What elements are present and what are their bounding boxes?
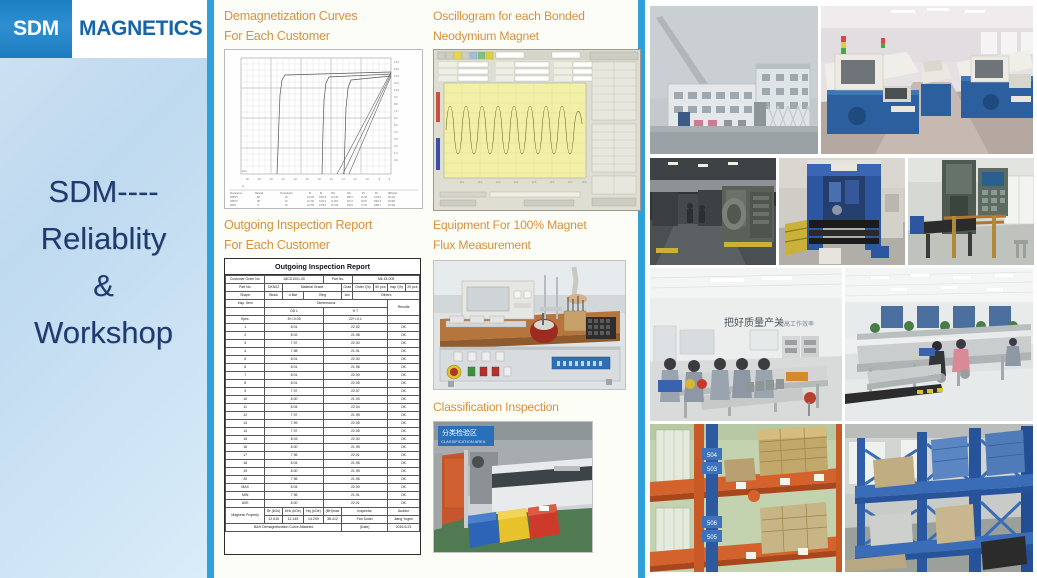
cell-row-dim-1: 8.01 <box>265 380 323 388</box>
cell-insp-item-label: Insp. Item <box>226 300 265 308</box>
sidebar-title-line-1: SDM---- <box>0 168 207 215</box>
cell-row-result: OK <box>387 444 419 452</box>
cell-spec-result <box>387 316 419 324</box>
cell-order-qty-label: Order Q'ty <box>353 284 374 292</box>
table-row: 18.0122.02OK <box>226 324 420 332</box>
svg-text:2.0: 2.0 <box>394 144 398 148</box>
cell-row-dim-1: 8.00 <box>265 444 323 452</box>
cell-row-index: 16 <box>226 444 265 452</box>
svg-text:505: 505 <box>707 535 718 541</box>
cell-shape-label: Shape <box>226 292 265 300</box>
table-row: 68.0121.96OK <box>226 364 420 372</box>
svg-text:19.87: 19.87 <box>361 201 367 203</box>
outgoing-report-block: Outgoing Inspection Report For Each Cust… <box>224 215 431 555</box>
table-row: Spec. 8+/-0.05 22+/-0.1 <box>226 316 420 324</box>
cell-material-grade-value: Grad <box>342 284 353 292</box>
cell-partno-value-top: Mk.15-005 <box>353 276 420 284</box>
cell-dim-col-1: OD L <box>265 308 323 316</box>
cell-row-dim-1: 7.98 <box>265 348 323 356</box>
svg-text:Br: Br <box>309 192 312 195</box>
table-row: MAX8.0422.09OK <box>226 484 420 492</box>
left-sidebar: SDM MAGNETICS SDM---- Reliablity & Works… <box>0 0 207 578</box>
svg-text:N35SH: N35SH <box>230 197 238 199</box>
cell-row-dim-1: 8.02 <box>265 332 323 340</box>
cell-row-index: 3 <box>226 340 265 348</box>
cell-summary-dim-1: 8.00 <box>265 500 323 508</box>
cell-row-index: 8 <box>226 380 265 388</box>
cell-row-dim-1: 7.97 <box>265 388 323 396</box>
cell-dimensions-header: Dimensions <box>265 300 388 308</box>
flux-measurement-equipment-photo[interactable] <box>433 260 626 390</box>
cell-partno-value: DKN22 <box>265 284 283 292</box>
classification-inspection-photo[interactable]: 分类检验区 CLASSIFICATION AREA <box>433 421 593 553</box>
svg-text:12.515: 12.515 <box>307 197 315 199</box>
table-row: Magnetic Property Br (kGs) bHc (kOe) Hcj… <box>226 508 420 516</box>
cell-footer-date: 2016.6.23 <box>387 524 419 532</box>
cell-row-dim-1: 8.03 <box>265 436 323 444</box>
cell-row-index: 7 <box>226 372 265 380</box>
cell-row-dim-2: 21.95 <box>323 460 387 468</box>
assembly-banner-text: 把好质量产关 <box>724 316 784 329</box>
cell-shape-block: Block <box>265 292 283 300</box>
cell-mag-col-0: Br (kGs) <box>265 508 283 516</box>
heading-classification: Classification Inspection <box>433 397 640 417</box>
oscillogram-svg: 10.110.2 10.310.4 10.510.6 10.710.8 <box>434 50 640 210</box>
cell-row-result: OK <box>387 412 419 420</box>
cell-order-qty-value: 50 pcs <box>373 284 387 292</box>
svg-text:503: 503 <box>707 467 718 473</box>
cell-partno-label: Part No. <box>226 284 265 292</box>
table-row: 137.9922.05OK <box>226 420 420 428</box>
cell-row-result: OK <box>387 372 419 380</box>
demagnetization-chart[interactable]: 14.013.0 12.011.0 10.09.0 8.07.0 6.05.0 … <box>224 49 423 209</box>
svg-text:3.0: 3.0 <box>394 137 398 141</box>
cell-row-dim-2: 21.96 <box>323 364 387 372</box>
table-row: 37.9722.00OK <box>226 340 420 348</box>
cell-row-dim-1: 8.00 <box>265 468 323 476</box>
cell-row-dim-2: 21.91 <box>323 348 387 356</box>
cell-summary-label: MAX <box>226 484 265 492</box>
cell-row-dim-2: 21.93 <box>323 396 387 404</box>
cell-summary-label: AVE <box>226 500 265 508</box>
cell-row-dim-1: 7.96 <box>265 452 323 460</box>
cell-shape-others: Others <box>353 292 420 300</box>
cell-row-index: 17 <box>226 452 265 460</box>
cell-row-dim-1: 8.01 <box>265 364 323 372</box>
svg-text:SH: SH <box>257 197 261 199</box>
cell-row-result: OK <box>387 364 419 372</box>
cell-row-dim-2: 22.00 <box>323 356 387 364</box>
cell-row-dim-2: 22.04 <box>323 404 387 412</box>
middle-top-row: Demagnetization Curves For Each Customer <box>224 6 634 211</box>
cell-summary-dim-2: 21.91 <box>323 492 387 500</box>
svg-text:10.1: 10.1 <box>460 181 465 184</box>
cell-row-index: 4 <box>226 348 265 356</box>
cell-dim-spacer <box>226 308 265 316</box>
cell-shape-bar: d Bar <box>282 292 303 300</box>
cell-row-result: OK <box>387 468 419 476</box>
cell-mag-val-1: 12.145 <box>282 516 303 524</box>
photo-assembly-line[interactable] <box>845 268 1033 421</box>
classification-photo-svg: 分类检验区 CLASSIFICATION AREA <box>434 422 592 552</box>
cell-magnetic-label: Magnetic Property <box>226 508 265 524</box>
photo-control-equipment[interactable] <box>908 158 1034 265</box>
cell-summary-dim-1: 8.04 <box>265 484 323 492</box>
svg-text:10.0: 10.0 <box>394 88 400 92</box>
svg-text:8.0: 8.0 <box>394 102 398 106</box>
svg-text:7.0: 7.0 <box>394 109 398 113</box>
sidebar-title-line-2: Reliablity <box>0 215 207 262</box>
svg-text:4.0: 4.0 <box>394 130 398 134</box>
svg-text:Temp(degC): Temp(degC) <box>280 193 293 195</box>
cell-row-dim-2: 22.07 <box>323 388 387 396</box>
heading-oscillogram-line2: Neodymium Magnet <box>433 26 640 46</box>
table-row: MIN7.9621.91OK <box>226 492 420 500</box>
cell-row-index: 6 <box>226 364 265 372</box>
svg-text:9.0: 9.0 <box>394 95 398 99</box>
cell-row-result: OK <box>387 452 419 460</box>
cell-insp-qty-value: 20 pcs <box>405 284 419 292</box>
svg-text:5.0: 5.0 <box>394 123 398 127</box>
cell-row-index: 1 <box>226 324 265 332</box>
middle-bottom-row: Outgoing Inspection Report For Each Cust… <box>224 215 634 555</box>
cell-row-index: 10 <box>226 396 265 404</box>
middle-panel: Demagnetization Curves For Each Customer <box>214 0 638 578</box>
svg-text:1275.0: 1275.0 <box>319 205 327 207</box>
equipment-photo-svg <box>434 261 625 389</box>
svg-text:14.0: 14.0 <box>394 60 400 64</box>
sign-en-text: CLASSIFICATION AREA <box>441 439 486 444</box>
photo-blue-racking[interactable] <box>845 424 1033 572</box>
cell-shape-arc: Arc <box>342 292 353 300</box>
logo-wordmark: MAGNETICS <box>72 17 202 41</box>
svg-text:1380.7: 1380.7 <box>374 205 382 207</box>
sign-cn-text: 分类检验区 <box>442 428 477 437</box>
cell-dim-col-2: H T <box>323 308 387 316</box>
table-row: 177.9622.01OK <box>226 452 420 460</box>
table-row: 88.0122.05OK <box>226 380 420 388</box>
report-header-section: Customer Order No. 18CD1001.00 Part No. … <box>226 276 420 324</box>
svg-text:1.0: 1.0 <box>394 151 398 155</box>
cell-row-result: OK <box>387 460 419 468</box>
heading-equipment-line1: Equipment For 100% Magnet <box>433 215 640 235</box>
oscillogram-block: Oscillogram for each Bonded Neodymium Ma… <box>433 6 640 211</box>
svg-text:H: H <box>242 184 244 188</box>
cell-row-dim-2: 22.02 <box>323 324 387 332</box>
cell-mag-col-3: (BH)max <box>323 508 342 516</box>
cell-row-result: OK <box>387 388 419 396</box>
svg-text:11.0: 11.0 <box>394 81 399 85</box>
svg-text:12.0: 12.0 <box>394 74 400 78</box>
svg-text:0.0: 0.0 <box>394 158 398 162</box>
cell-row-result: OK <box>387 428 419 436</box>
cell-row-dim-1: 7.97 <box>265 412 323 420</box>
cell-row-dim-2: 21.99 <box>323 412 387 420</box>
cell-footer-date-label: (Date) <box>342 524 388 532</box>
svg-text:17.35: 17.35 <box>361 205 367 207</box>
svg-text:10.8: 10.8 <box>582 181 587 184</box>
table-row: 78.0122.09OK <box>226 372 420 380</box>
table-row: 207.9621.95OK <box>226 476 420 484</box>
cell-row-index: 13 <box>226 420 265 428</box>
heading-report-line2: For Each Customer <box>224 235 431 255</box>
cell-shape-ring: Ring <box>304 292 342 300</box>
cell-customer-order-value: 18CD1001.00 <box>265 276 323 284</box>
cell-row-dim-2: 21.99 <box>323 468 387 476</box>
cell-row-result: OK <box>387 396 419 404</box>
table-row: 158.0322.00OK <box>226 436 420 444</box>
cell-row-dim-1: 8.00 <box>265 396 323 404</box>
svg-text:1251.5: 1251.5 <box>319 197 327 199</box>
cell-row-dim-1: 8.01 <box>265 372 323 380</box>
photo-blue-press[interactable] <box>779 158 905 265</box>
cell-row-dim-1: 7.99 <box>265 420 323 428</box>
svg-text:10.4: 10.4 <box>514 181 519 184</box>
heading-report-line1: Outgoing Inspection Report <box>224 215 431 235</box>
table-row: 28.0221.98OK <box>226 332 420 340</box>
svg-text:Br: Br <box>320 192 323 195</box>
logo-mark-badge: SDM <box>0 0 72 58</box>
company-logo[interactable]: SDM MAGNETICS <box>0 0 207 58</box>
svg-text:504: 504 <box>707 453 718 459</box>
photo-dark-workshop[interactable] <box>650 158 776 265</box>
cell-results-header: Results <box>387 300 419 316</box>
table-row: B&H Demagnetization Curve Attached (Date… <box>226 524 420 532</box>
cell-auditor-label: Auditor <box>387 508 419 516</box>
table-row: Insp. Item Dimensions Results <box>226 300 420 308</box>
svg-text:506: 506 <box>707 521 718 527</box>
cell-row-dim-2: 22.05 <box>323 428 387 436</box>
svg-text:36.990: 36.990 <box>388 201 396 203</box>
cell-summary-label: MIN <box>226 492 265 500</box>
sidebar-title: SDM---- Reliablity & Workshop <box>0 168 207 356</box>
cell-mag-val-3: 38.412 <box>323 516 342 524</box>
heading-demagnetization-line2: For Each Customer <box>224 26 431 46</box>
report-magnetic-section: Magnetic Property Br (kGs) bHc (kOe) Hcj… <box>226 508 420 532</box>
report-measurement-rows: 18.0122.02OK28.0221.98OK37.9722.00OK47.9… <box>226 324 420 484</box>
cell-row-dim-2: 22.01 <box>323 452 387 460</box>
cell-row-result: OK <box>387 476 419 484</box>
svg-text:13.0: 13.0 <box>394 67 400 71</box>
cell-row-index: 5 <box>226 356 265 364</box>
cell-row-result: OK <box>387 404 419 412</box>
table-row: 97.9722.07OK <box>226 388 420 396</box>
cell-row-index: 19 <box>226 468 265 476</box>
sidebar-title-line-3: & <box>0 262 207 309</box>
heading-demagnetization-line1: Demagnetization Curves <box>224 6 431 26</box>
svg-text:Material: Material <box>255 192 264 195</box>
cell-partno-label-top: Part No. <box>323 276 352 284</box>
svg-text:12.750: 12.750 <box>307 205 315 207</box>
cell-row-dim-2: 22.00 <box>323 436 387 444</box>
logo-mark-text: SDM <box>13 17 59 41</box>
svg-text:12.312: 12.312 <box>331 205 339 207</box>
svg-text:10.5: 10.5 <box>532 181 537 184</box>
slide-root: SDM MAGNETICS SDM---- Reliablity & Works… <box>0 0 1037 578</box>
cell-row-result: OK <box>387 420 419 428</box>
svg-text:Remanence: Remanence <box>230 193 243 195</box>
cell-row-dim-1: 7.97 <box>265 340 323 348</box>
cell-spec-value-1: 8+/-0.05 <box>265 316 323 324</box>
cell-footer-note: B&H Demagnetization Curve Attached <box>226 524 342 532</box>
cell-summary-result: OK <box>387 500 419 508</box>
cell-row-dim-1: 7.97 <box>265 428 323 436</box>
cell-insp-qty-label: Insp Q'ty <box>387 284 405 292</box>
cell-summary-dim-2: 22.01 <box>323 500 387 508</box>
svg-text:N40H: N40H <box>230 205 236 207</box>
cell-row-index: 18 <box>226 460 265 468</box>
cell-row-dim-2: 22.05 <box>323 420 387 428</box>
cell-customer-order-label: Customer Order No. <box>226 276 265 284</box>
table-row: AVE8.0022.01OK <box>226 500 420 508</box>
svg-text:21.99: 21.99 <box>361 197 367 199</box>
table-row: 108.0021.93OK <box>226 396 420 404</box>
photo-machining-hall[interactable] <box>821 6 1033 154</box>
svg-text:kOe: kOe <box>242 169 247 173</box>
svg-text:1750.0: 1750.0 <box>374 197 382 199</box>
cell-spec-label: Spec. <box>226 316 265 324</box>
cell-mag-col-1: bHc (kOe) <box>282 508 303 516</box>
svg-text:10.2: 10.2 <box>478 181 483 184</box>
table-row: 168.0021.99OK <box>226 444 420 452</box>
svg-text:979.8: 979.8 <box>347 205 353 207</box>
table-row: Part No. DKN22 Material Grade Grad Order… <box>226 284 420 292</box>
table-row: Customer Order No. 18CD1001.00 Part No. … <box>226 276 420 284</box>
cell-inspector-value: Fan Solan <box>342 516 388 524</box>
cell-row-result: OK <box>387 332 419 340</box>
svg-text:N38SH: N38SH <box>230 201 238 203</box>
outgoing-inspection-report[interactable]: Outgoing Inspection Report Customer Orde… <box>224 258 421 555</box>
cell-row-dim-1: 8.04 <box>265 404 323 412</box>
cell-row-dim-1: 8.01 <box>265 324 323 332</box>
cell-mag-val-2: 14.299 <box>304 516 324 524</box>
table-row: 188.0421.95OK <box>226 460 420 468</box>
cell-row-result: OK <box>387 356 419 364</box>
table-row: 147.9722.05OK <box>226 428 420 436</box>
svg-text:11.902: 11.902 <box>331 201 339 203</box>
svg-text:12.310: 12.310 <box>307 201 315 203</box>
svg-text:SH: SH <box>257 201 261 203</box>
cell-row-dim-2: 21.95 <box>323 476 387 484</box>
svg-text:1231.0: 1231.0 <box>319 201 327 203</box>
table-row: 58.0122.00OK <box>226 356 420 364</box>
svg-text:947.2: 947.2 <box>347 201 353 203</box>
svg-text:10.3: 10.3 <box>496 181 501 184</box>
table-row: 198.0021.99OK <box>226 468 420 476</box>
cell-row-dim-2: 22.05 <box>323 380 387 388</box>
cell-mag-col-2: Hcj (kOe) <box>304 508 324 516</box>
oscillogram-screenshot[interactable]: 10.110.2 10.310.4 10.510.6 10.710.8 <box>433 49 641 211</box>
cell-row-index: 20 <box>226 476 265 484</box>
equipment-classification-block: Equipment For 100% Magnet Flux Measureme… <box>433 215 640 555</box>
svg-text:(BH)max: (BH)max <box>388 193 398 195</box>
report-table: Customer Order No. 18CD1001.00 Part No. … <box>225 275 420 532</box>
cell-row-result: OK <box>387 324 419 332</box>
cell-row-dim-2: 22.09 <box>323 372 387 380</box>
svg-text:10.6: 10.6 <box>550 181 555 184</box>
cell-row-dim-1: 7.96 <box>265 476 323 484</box>
cell-row-index: 15 <box>226 436 265 444</box>
svg-text:6.0: 6.0 <box>394 116 398 120</box>
cell-auditor-value: Jiang Yugen <box>387 516 419 524</box>
svg-text:1581.3: 1581.3 <box>374 201 382 203</box>
cell-row-dim-2: 21.98 <box>323 332 387 340</box>
report-summary-rows: MAX8.0422.09OKMIN7.9621.91OKAVE8.0022.01… <box>226 484 420 508</box>
cell-spec-value-2: 22+/-0.1 <box>323 316 387 324</box>
photo-orange-racking[interactable]: 504503 506505 <box>650 424 842 572</box>
cell-row-index: 11 <box>226 404 265 412</box>
svg-text:12.145: 12.145 <box>331 197 339 199</box>
cell-row-dim-2: 22.00 <box>323 340 387 348</box>
svg-text:39.402: 39.402 <box>388 205 396 207</box>
demag-chart-svg: 14.013.0 12.011.0 10.09.0 8.07.0 6.05.0 … <box>225 50 422 208</box>
table-row: 47.9821.91OK <box>226 348 420 356</box>
cell-row-dim-1: 8.04 <box>265 460 323 468</box>
cell-row-result: OK <box>387 348 419 356</box>
cell-row-result: OK <box>387 380 419 388</box>
cell-row-dim-2: 21.99 <box>323 444 387 452</box>
demagnetization-block: Demagnetization Curves For Each Customer <box>224 6 431 211</box>
cell-summary-dim-1: 7.96 <box>265 492 323 500</box>
photo-factory-exterior[interactable] <box>650 6 818 154</box>
cell-summary-dim-2: 22.09 <box>323 484 387 492</box>
cell-summary-result: OK <box>387 492 419 500</box>
table-row: 127.9721.99OK <box>226 412 420 420</box>
svg-text:10.7: 10.7 <box>568 181 573 184</box>
cell-row-result: OK <box>387 436 419 444</box>
cell-row-dim-1: 8.01 <box>265 356 323 364</box>
table-row: 118.0422.04OK <box>226 404 420 412</box>
right-photo-grid: 把好质量产关 提高工作效率 <box>645 0 1037 578</box>
svg-text:966.5: 966.5 <box>347 197 353 199</box>
photo-assembly-workers[interactable]: 把好质量产关 提高工作效率 <box>650 268 842 421</box>
cell-material-grade-label: Material Grade <box>282 284 341 292</box>
cell-row-index: 12 <box>226 412 265 420</box>
sidebar-title-line-4: Workshop <box>0 309 207 356</box>
svg-text:提高工作效率: 提高工作效率 <box>778 320 814 328</box>
cell-row-result: OK <box>387 340 419 348</box>
heading-oscillogram-line1: Oscillogram for each Bonded <box>433 6 640 26</box>
cell-summary-result: OK <box>387 484 419 492</box>
report-title: Outgoing Inspection Report <box>225 259 420 275</box>
cell-row-index: 9 <box>226 388 265 396</box>
divider-left <box>207 0 214 578</box>
cell-row-index: 14 <box>226 428 265 436</box>
cell-row-index: 2 <box>226 332 265 340</box>
svg-text:38.412: 38.412 <box>388 197 396 199</box>
cell-inspector-label: Inspector <box>342 508 388 516</box>
heading-equipment-line2: Flux Measurement <box>433 235 640 255</box>
cell-mag-val-0: 12.515 <box>265 516 283 524</box>
table-row: Shape Block d Bar Ring Arc Others <box>226 292 420 300</box>
